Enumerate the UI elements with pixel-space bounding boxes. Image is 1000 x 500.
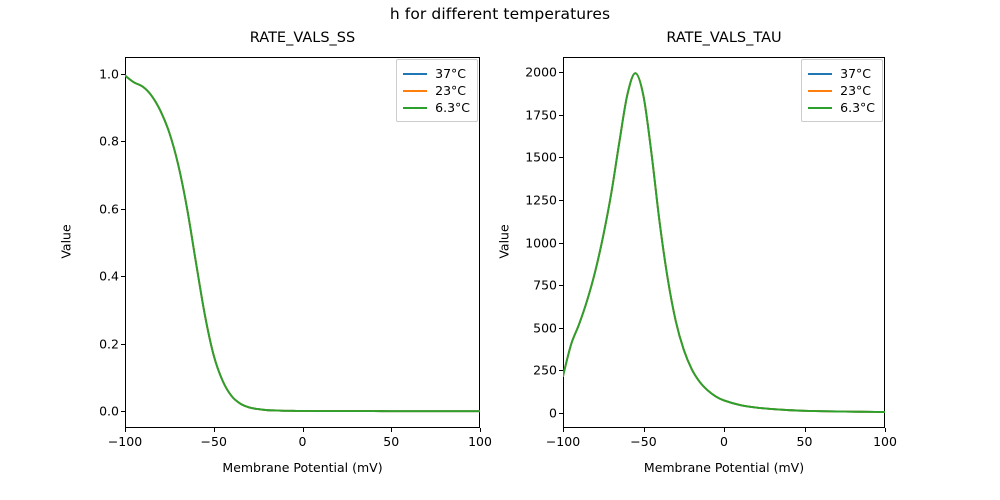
legend-item[interactable]: 37°C <box>403 65 470 82</box>
ytick-label: 0.0 <box>99 404 119 419</box>
ytick-mark <box>121 141 125 142</box>
ytick-mark <box>559 243 563 244</box>
ytick-mark <box>559 200 563 201</box>
series-line-37 <box>125 76 480 412</box>
xtick-label: −100 <box>108 434 142 449</box>
xtick-mark <box>885 428 886 432</box>
ytick-mark <box>559 115 563 116</box>
axes-title-right: RATE_VALS_TAU <box>563 30 885 46</box>
ytick-label: 2000 <box>525 65 557 80</box>
xtick-mark <box>563 428 564 432</box>
xtick-label: 100 <box>468 434 492 449</box>
legend-label: 23°C <box>840 82 871 99</box>
ytick-label: 0.4 <box>99 269 119 284</box>
xtick-label: −50 <box>630 434 656 449</box>
ytick-mark <box>559 413 563 414</box>
ytick-label: 0.6 <box>99 201 119 216</box>
ytick-mark <box>559 157 563 158</box>
legend-swatch-icon <box>403 73 427 75</box>
ytick-mark <box>121 74 125 75</box>
legend-swatch-icon <box>808 90 832 92</box>
ytick-mark <box>121 276 125 277</box>
ytick-mark <box>121 411 125 412</box>
series-line-37 <box>563 73 885 412</box>
xtick-mark <box>214 428 215 432</box>
ytick-label: 500 <box>533 320 557 335</box>
legend-swatch-icon <box>808 73 832 75</box>
ytick-label: 0 <box>549 405 557 420</box>
xtick-mark <box>303 428 304 432</box>
ytick-mark <box>559 72 563 73</box>
figure-suptitle: h for different temperatures <box>0 5 1000 23</box>
xtick-label: 50 <box>383 434 399 449</box>
legend-left[interactable]: 37°C23°C6.3°C <box>396 59 478 122</box>
xtick-label: −50 <box>201 434 227 449</box>
ytick-label: 1250 <box>525 192 557 207</box>
xtick-label: 0 <box>299 434 307 449</box>
legend-right[interactable]: 37°C23°C6.3°C <box>801 59 883 122</box>
yaxis-label-right: Value <box>497 224 512 258</box>
ytick-label: 750 <box>533 278 557 293</box>
ytick-label: 1750 <box>525 107 557 122</box>
axes-title-left: RATE_VALS_SS <box>125 30 480 46</box>
ytick-label: 250 <box>533 363 557 378</box>
ytick-mark <box>559 285 563 286</box>
figure-canvas: h for different temperatures RATE_VALS_S… <box>0 0 1000 500</box>
ytick-mark <box>121 209 125 210</box>
yaxis-label-left: Value <box>59 224 74 258</box>
legend-item[interactable]: 37°C <box>808 65 875 82</box>
series-line-23 <box>125 76 480 412</box>
xaxis-label-left: Membrane Potential (mV) <box>125 460 480 475</box>
legend-item[interactable]: 23°C <box>808 82 875 99</box>
legend-item[interactable]: 6.3°C <box>808 99 875 116</box>
ytick-label: 1500 <box>525 150 557 165</box>
xtick-label: 50 <box>797 434 813 449</box>
ytick-label: 0.8 <box>99 134 119 149</box>
legend-swatch-icon <box>808 107 832 109</box>
xtick-label: 100 <box>873 434 897 449</box>
xtick-mark <box>125 428 126 432</box>
xtick-label: 0 <box>720 434 728 449</box>
legend-label: 6.3°C <box>840 99 875 116</box>
legend-label: 37°C <box>840 65 871 82</box>
legend-label: 23°C <box>435 82 466 99</box>
xaxis-label-right: Membrane Potential (mV) <box>563 460 885 475</box>
xtick-mark <box>805 428 806 432</box>
subplot-rate-vals-ss: RATE_VALS_SS Membrane Potential (mV) Val… <box>125 57 480 428</box>
legend-item[interactable]: 6.3°C <box>403 99 470 116</box>
ytick-label: 1.0 <box>99 66 119 81</box>
xtick-mark <box>644 428 645 432</box>
xtick-mark <box>480 428 481 432</box>
ytick-mark <box>121 344 125 345</box>
legend-item[interactable]: 23°C <box>403 82 470 99</box>
subplot-rate-vals-tau: RATE_VALS_TAU Membrane Potential (mV) Va… <box>563 57 885 428</box>
legend-label: 6.3°C <box>435 99 470 116</box>
xtick-mark <box>391 428 392 432</box>
series-line-6.3 <box>563 73 885 412</box>
series-line-6.3 <box>125 76 480 412</box>
ytick-mark <box>559 370 563 371</box>
ytick-label: 1000 <box>525 235 557 250</box>
series-line-23 <box>563 73 885 412</box>
xtick-mark <box>724 428 725 432</box>
legend-label: 37°C <box>435 65 466 82</box>
ytick-mark <box>559 328 563 329</box>
legend-swatch-icon <box>403 107 427 109</box>
legend-swatch-icon <box>403 90 427 92</box>
xtick-label: −100 <box>546 434 580 449</box>
ytick-label: 0.2 <box>99 336 119 351</box>
